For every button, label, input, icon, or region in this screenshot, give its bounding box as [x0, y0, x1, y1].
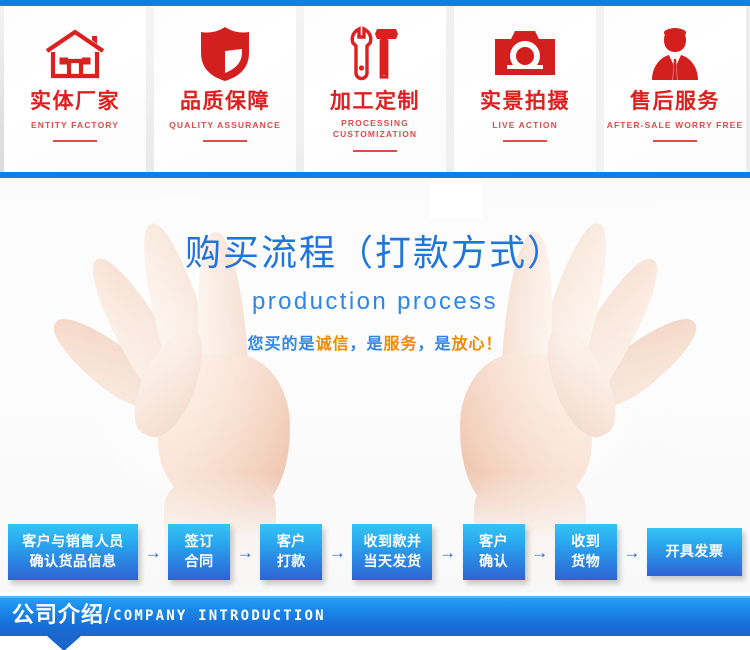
flow-step-line: 开具发票 [665, 542, 723, 562]
page-root: 实体厂家 ENTITY FACTORY 品质保障 QUALITY ASSURAN… [0, 0, 750, 650]
feature-title-zh: 品质保障 [180, 91, 270, 112]
flow-arrow-icon: → [230, 544, 260, 561]
process-flow: 客户与销售人员确认货品信息→签订合同→客户打款→收到款并当天发货→客户确认→收到… [0, 516, 750, 588]
feature-underline [53, 140, 97, 142]
section-title-zh: 公司介绍 [12, 605, 104, 627]
section-title-en: COMPANY INTRODUCTION [113, 609, 326, 623]
company-introduction-bar: 公司介绍 / COMPANY INTRODUCTION [0, 596, 750, 636]
flow-arrow-icon: → [432, 544, 462, 561]
feature-title-en: PROCESSING CUSTOMIZATION [333, 118, 417, 141]
feature-title-en: AFTER-SALE WORRY FREE [607, 120, 743, 131]
feature-card-after-sale[interactable]: 售后服务 AFTER-SALE WORRY FREE [604, 6, 746, 172]
flow-step-7[interactable]: 开具发票 [647, 528, 742, 576]
tagline-part: 放心！ [452, 334, 503, 353]
feature-title-en: ENTITY FACTORY [31, 120, 119, 131]
flow-step-line: 客户 [479, 532, 508, 552]
tagline-part: ，是 [418, 334, 452, 353]
support-agent-icon [646, 23, 704, 85]
flow-step-line: 客户 [277, 532, 306, 552]
camera-icon [493, 23, 557, 85]
feature-card-list: 实体厂家 ENTITY FACTORY 品质保障 QUALITY ASSURAN… [0, 6, 750, 172]
flow-arrow-icon: → [322, 544, 352, 561]
flow-step-line: 确认 [479, 552, 508, 572]
tools-icon [346, 23, 404, 85]
flow-step-line: 打款 [277, 552, 306, 572]
feature-title-zh: 实景拍摄 [480, 91, 570, 112]
house-icon [44, 23, 106, 85]
feature-underline [503, 140, 547, 142]
tagline-part: ，是 [349, 334, 383, 353]
flow-arrow-icon: → [525, 544, 555, 561]
flow-step-line: 收到款并 [363, 532, 421, 552]
page-subtitle: production process [0, 288, 750, 316]
flow-arrow-icon: → [617, 544, 647, 561]
hero-text-block: 购买流程（打款方式） production process 您买的是诚信，是服务… [0, 234, 750, 354]
section-title-separator: / [105, 605, 111, 627]
tagline-part: 诚信 [315, 334, 349, 353]
flow-step-line: 合同 [185, 552, 214, 572]
flow-step-line: 收到 [571, 532, 600, 552]
feature-card-entity-factory[interactable]: 实体厂家 ENTITY FACTORY [4, 6, 146, 172]
section-notch-triangle [47, 636, 81, 650]
feature-title-en: LIVE ACTION [492, 120, 558, 131]
feature-strip: 实体厂家 ENTITY FACTORY 品质保障 QUALITY ASSURAN… [0, 6, 750, 172]
feature-card-live-action[interactable]: 实景拍摄 LIVE ACTION [454, 6, 596, 172]
feature-card-quality-assurance[interactable]: 品质保障 QUALITY ASSURANCE [154, 6, 296, 172]
flow-step-line: 客户与销售人员 [22, 532, 124, 552]
flow-step-3[interactable]: 客户打款 [260, 524, 322, 580]
feature-underline [353, 150, 397, 152]
feature-title-en: QUALITY ASSURANCE [169, 120, 281, 131]
flow-step-2[interactable]: 签订合同 [168, 524, 230, 580]
feature-title-zh: 实体厂家 [30, 91, 120, 112]
hero-tagline: 您买的是诚信，是服务，是放心！ [0, 330, 750, 354]
flow-step-line: 货物 [571, 552, 600, 572]
flow-step-line: 签订 [185, 532, 214, 552]
feature-underline [203, 140, 247, 142]
flow-step-1[interactable]: 客户与销售人员确认货品信息 [8, 524, 138, 580]
flow-step-5[interactable]: 客户确认 [463, 524, 525, 580]
feature-title-zh: 售后服务 [630, 91, 720, 112]
bottom-white-fill [0, 636, 750, 650]
feature-underline [653, 140, 697, 142]
flow-step-line: 当天发货 [363, 552, 421, 572]
flow-arrow-icon: → [138, 544, 168, 561]
tagline-part: 服务 [384, 334, 418, 353]
flow-step-4[interactable]: 收到款并当天发货 [352, 524, 432, 580]
flow-step-6[interactable]: 收到货物 [555, 524, 617, 580]
shield-icon [198, 23, 252, 85]
feature-card-processing-customization[interactable]: 加工定制 PROCESSING CUSTOMIZATION [304, 6, 446, 172]
flow-step-line: 确认货品信息 [30, 552, 117, 572]
tagline-part: 您买的是 [247, 334, 315, 353]
feature-title-zh: 加工定制 [330, 91, 420, 112]
page-title: 购买流程（打款方式） [0, 234, 750, 274]
